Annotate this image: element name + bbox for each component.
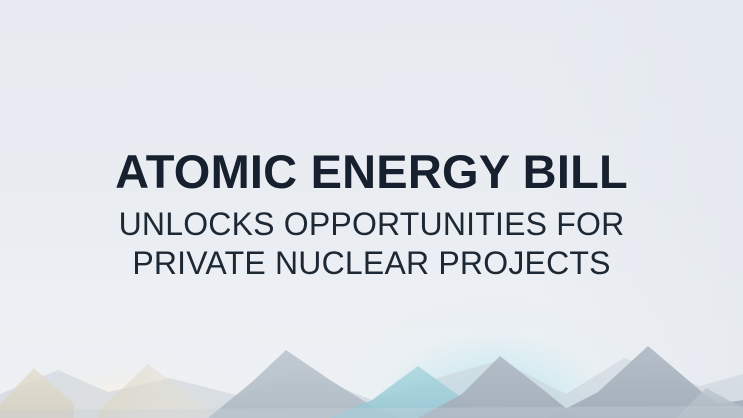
mountain-range-silhouettes <box>0 308 743 418</box>
subtitle-line-1: UNLOCKS OPPORTUNITIES FOR <box>20 206 723 244</box>
subtitle-line-2: PRIVATE NUCLEAR PROJECTS <box>20 245 723 283</box>
title-block: ATOMIC ENERGY BILL UNLOCKS OPPORTUNITIES… <box>0 148 743 282</box>
mountains-svg <box>0 308 743 418</box>
title-card-slide: ATOMIC ENERGY BILL UNLOCKS OPPORTUNITIES… <box>0 0 743 418</box>
page-title: ATOMIC ENERGY BILL <box>20 148 723 197</box>
